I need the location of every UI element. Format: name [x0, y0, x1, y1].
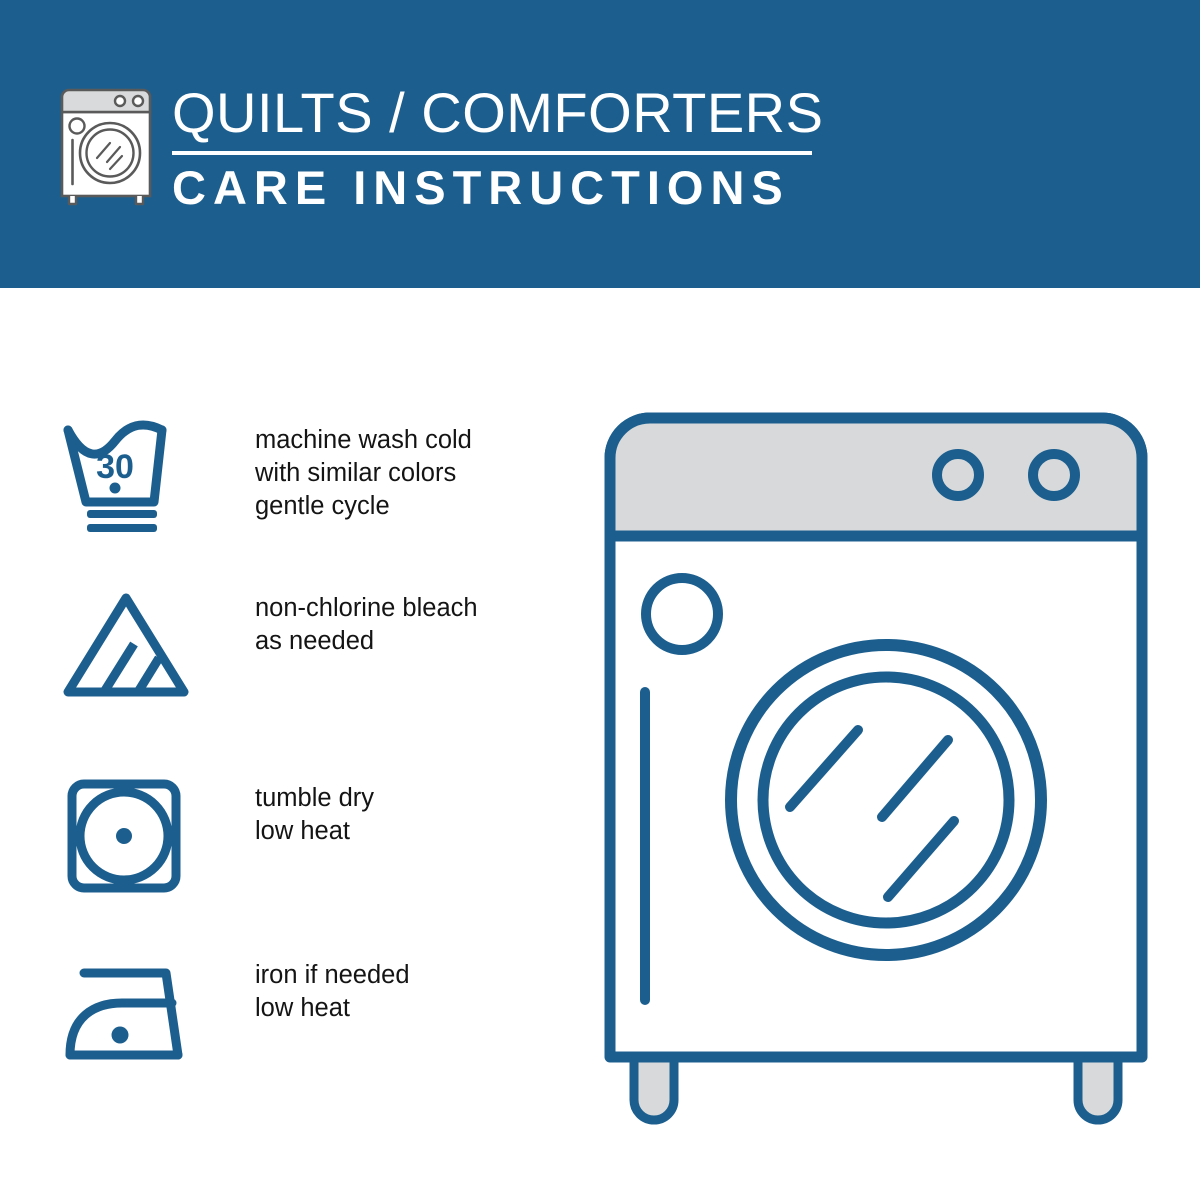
care-text-bleach: non-chlorine bleach as needed [255, 588, 478, 658]
care-row-wash: 30 machine wash cold with similar colors… [60, 420, 530, 536]
page-title: QUILTS / COMFORTERS [172, 82, 832, 144]
gentle-bar-1 [87, 510, 157, 518]
care-line: non-chlorine bleach [255, 592, 478, 625]
infographic-page: QUILTS / COMFORTERS CARE INSTRUCTIONS 30… [0, 0, 1200, 1200]
iron-dot-icon [112, 1027, 129, 1044]
washing-machine-icon [52, 84, 160, 208]
machine-wash-30-gentle-icon: 30 [60, 420, 194, 536]
care-line: low heat [255, 815, 374, 848]
header-banner: QUILTS / COMFORTERS CARE INSTRUCTIONS [0, 0, 1200, 288]
wash-dot-icon [110, 483, 121, 494]
non-chlorine-bleach-triangle-icon [60, 588, 194, 704]
care-line: as needed [255, 625, 478, 658]
gentle-bar-2 [87, 524, 157, 532]
bleach-stripe-2 [138, 658, 159, 692]
care-line: gentle cycle [255, 490, 472, 523]
tumble-dry-low-heat-icon [60, 778, 194, 894]
care-line: machine wash cold [255, 424, 472, 457]
care-text-tumble-dry: tumble dry low heat [255, 778, 374, 848]
care-line: tumble dry [255, 782, 374, 815]
header-title-block: QUILTS / COMFORTERS CARE INSTRUCTIONS [172, 82, 832, 215]
tumble-dry-dot-icon [116, 828, 132, 844]
bleach-stripe-1 [104, 644, 134, 692]
wash-temperature-label: 30 [96, 448, 134, 486]
care-row-tumble-dry: tumble dry low heat [60, 778, 530, 894]
care-line: with similar colors [255, 457, 472, 490]
care-text-iron: iron if needed low heat [255, 955, 410, 1025]
care-row-iron: iron if needed low heat [60, 955, 530, 1071]
page-subtitle: CARE INSTRUCTIONS [172, 161, 832, 215]
care-line: iron if needed [255, 959, 410, 992]
front-load-washing-machine-illustration [596, 400, 1156, 1125]
iron-low-heat-icon [60, 955, 194, 1071]
care-line: low heat [255, 992, 410, 1025]
title-divider [172, 151, 812, 155]
care-text-wash: machine wash cold with similar colors ge… [255, 420, 472, 523]
care-row-bleach: non-chlorine bleach as needed [60, 588, 530, 704]
control-panel [610, 418, 1142, 536]
